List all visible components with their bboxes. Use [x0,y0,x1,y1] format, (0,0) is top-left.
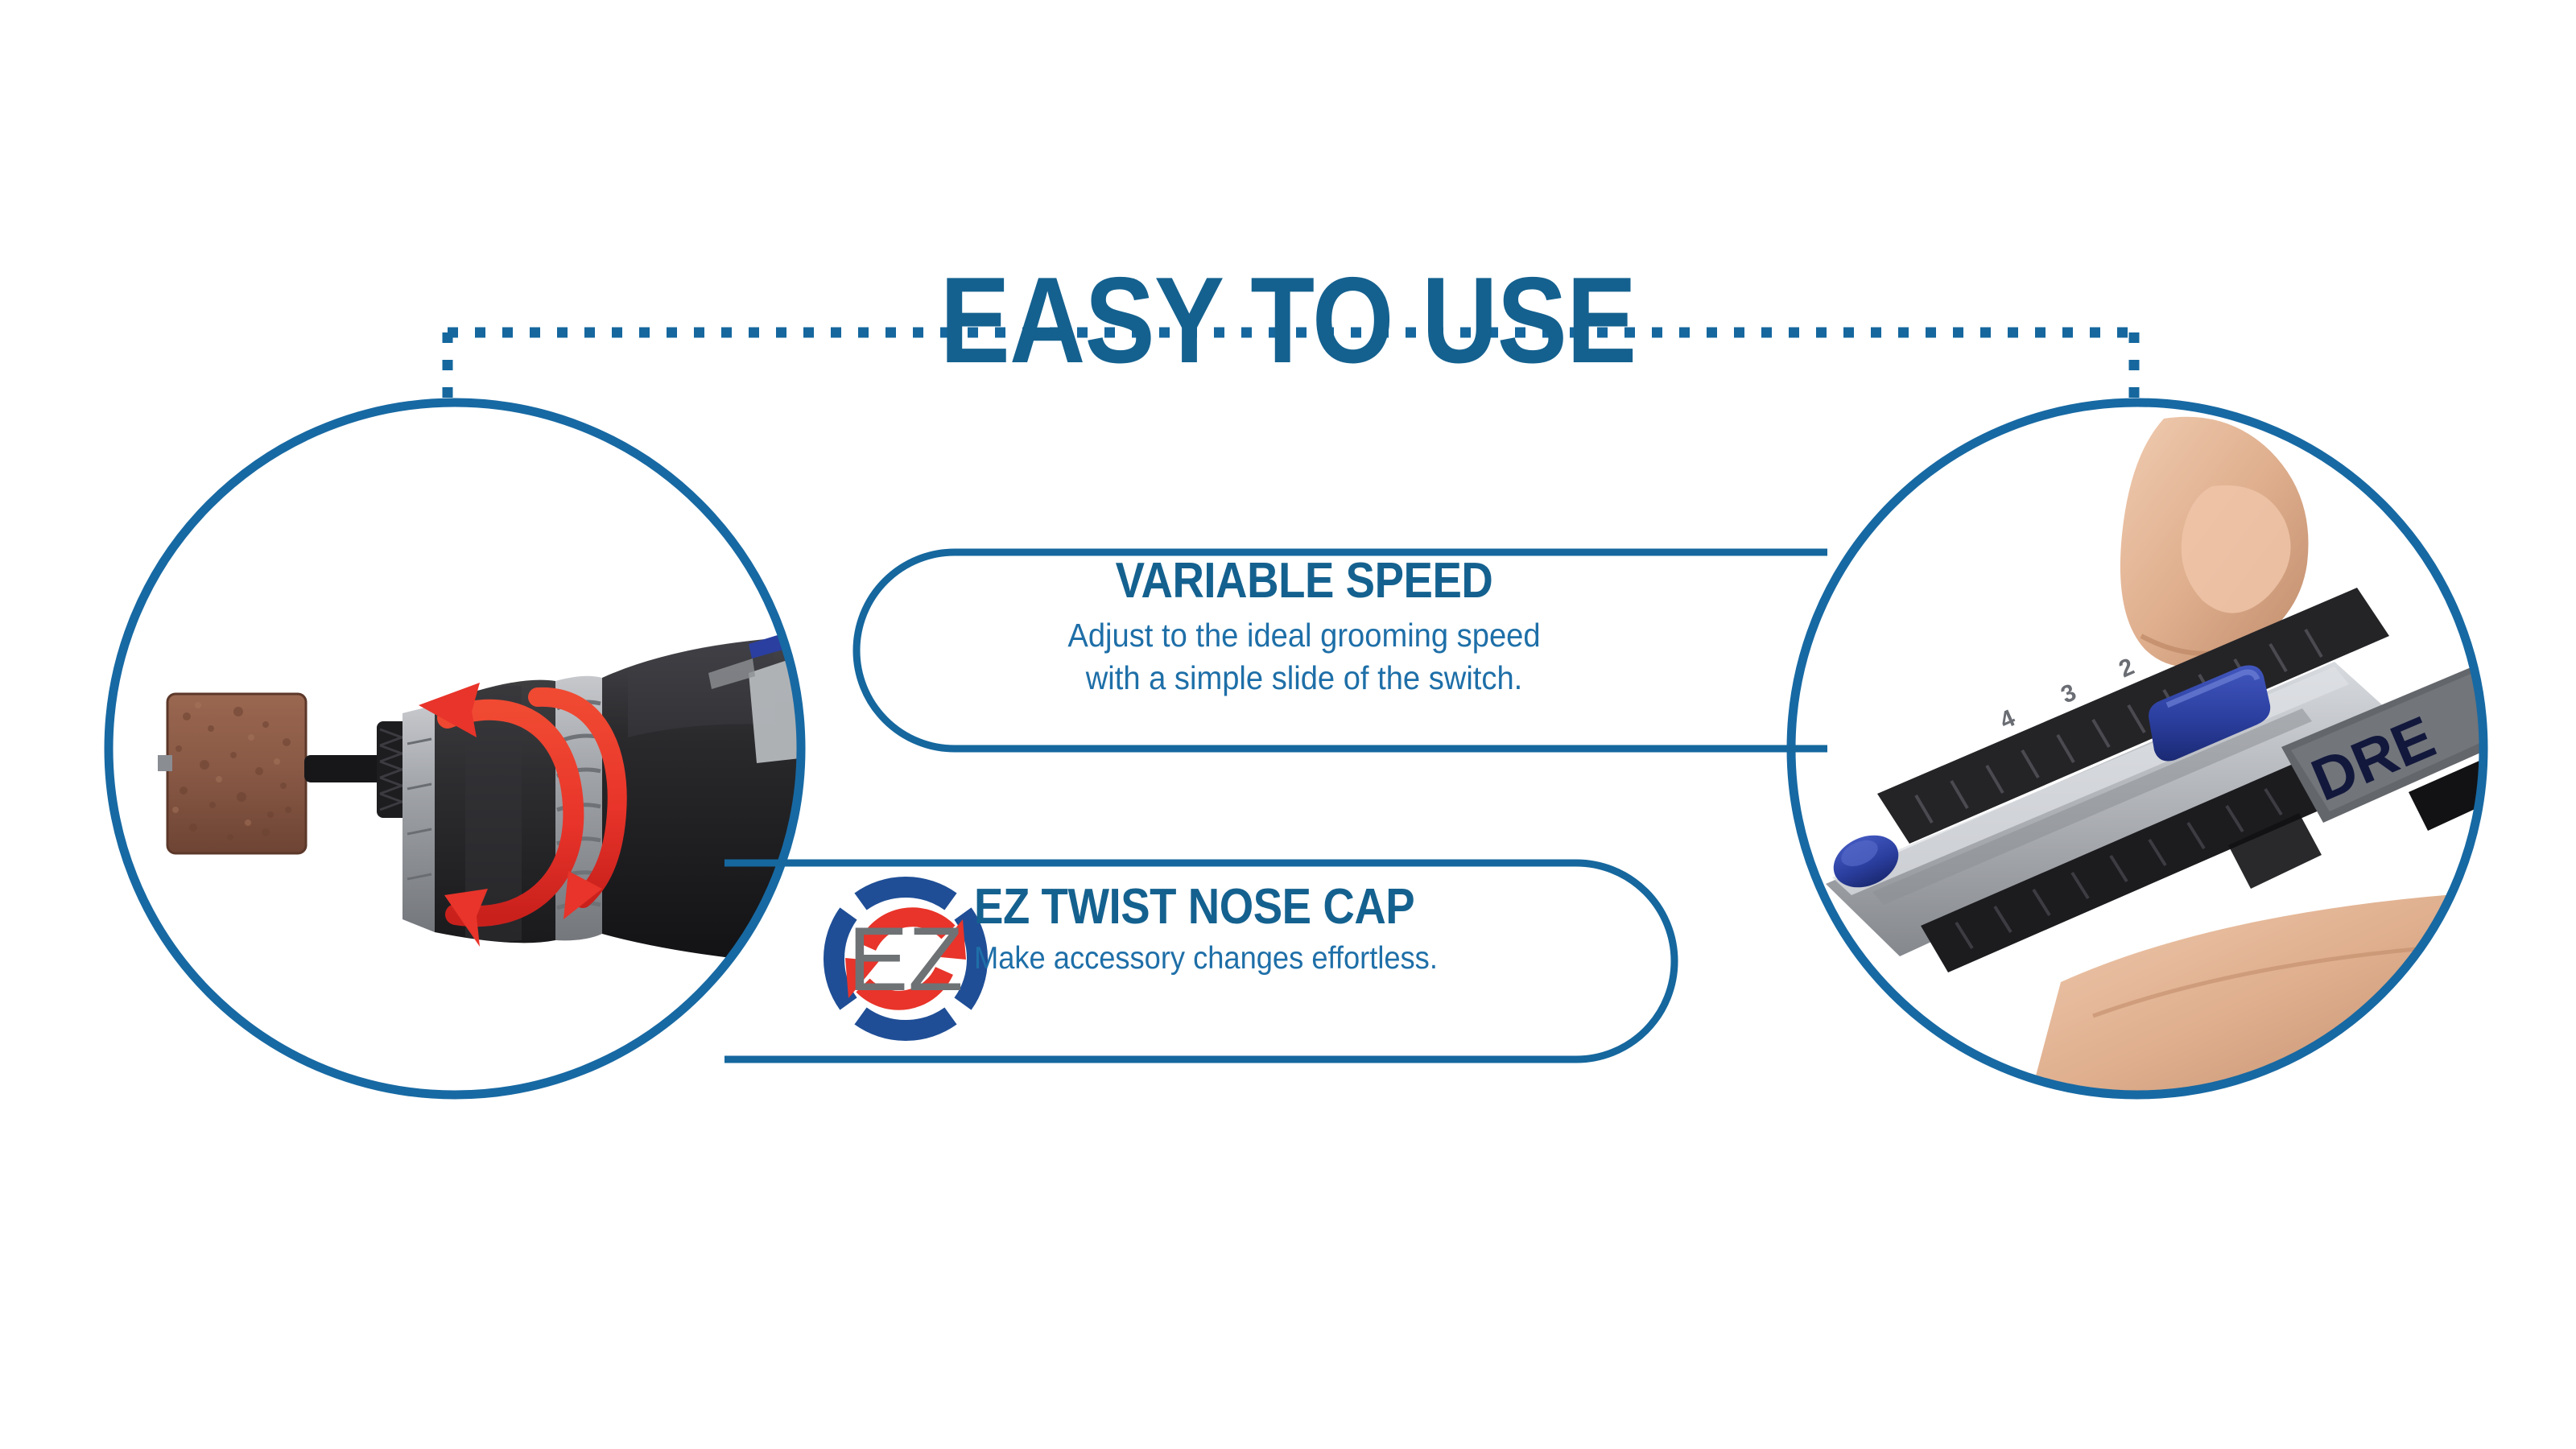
sanding-drum-accessory [158,694,306,853]
variable-speed-body-line1: Adjust to the ideal grooming speed [930,614,1678,656]
ez-twist-body-line1: Make accessory changes effortless. [974,939,1603,979]
ez-twist-text-group: EZ TWIST NOSE CAP Make accessory changes… [974,881,1650,979]
ez-twist-badge-icon: EZ [834,887,977,1030]
left-product-photo [109,402,829,1095]
ez-badge-letters: EZ [848,909,963,1009]
infographic-canvas: 4 3 2 DRE [0,0,2576,1449]
page-title: EASY TO USE [180,259,2396,382]
variable-speed-title: VARIABLE SPEED [950,555,1658,606]
variable-speed-text-group: VARIABLE SPEED Adjust to the ideal groom… [902,555,1707,699]
infographic-graphics: 4 3 2 DRE [0,0,2576,1449]
ez-twist-title: EZ TWIST NOSE CAP [974,881,1569,932]
variable-speed-body-line2: with a simple slide of the switch. [930,657,1678,699]
right-product-photo: 4 3 2 DRE [1791,402,2553,1103]
